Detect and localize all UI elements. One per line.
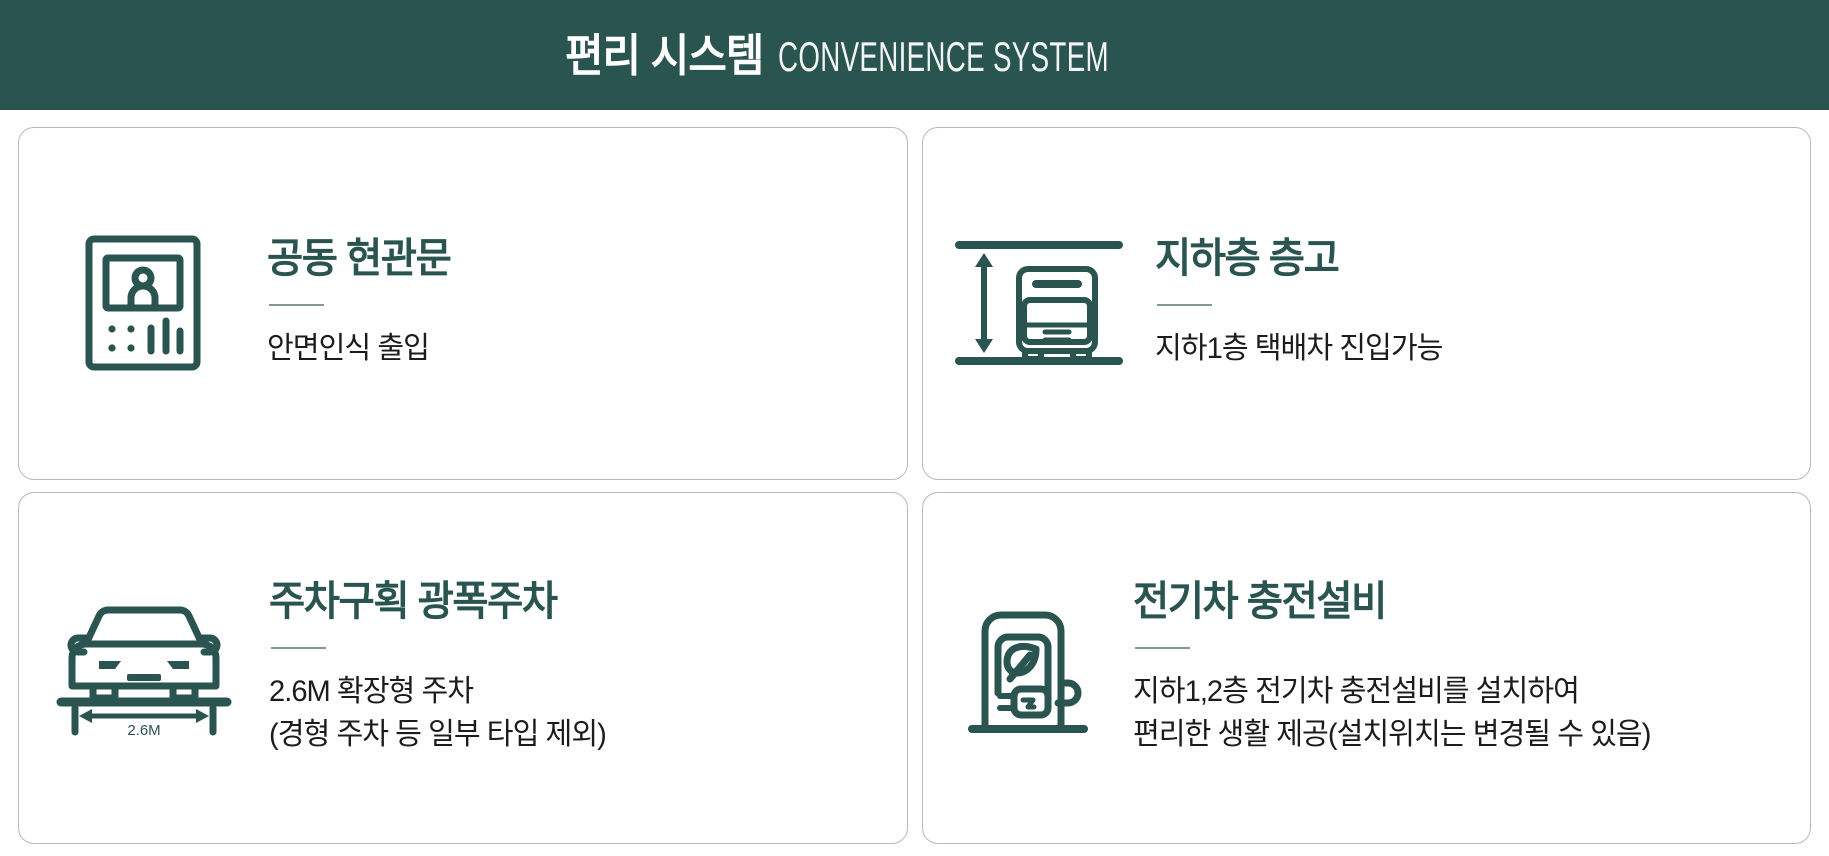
feature-card-basement[interactable]: 지하층 층고 지하1층 택배차 진입가능: [922, 127, 1812, 480]
card-text-parking: 2.6M 확장형 주차 (경형 주차 등 일부 타입 제외): [269, 671, 858, 756]
card-title-ev: 전기차 충전설비: [1133, 579, 1755, 625]
card-text-ev: 지하1,2층 전기차 충전설비를 설치하여 편리한 생활 제공(설치위치는 변경…: [1133, 671, 1761, 756]
card-text-basement: 지하1층 택배차 진입가능: [1155, 328, 1762, 371]
feature-card-entrance[interactable]: 공동 현관문 안면인식 출입: [18, 127, 908, 480]
card-divider: [1135, 647, 1190, 649]
card-divider: [269, 304, 324, 306]
page-header: 편리 시스템 CONVENIENCE SYSTEM: [0, 0, 1829, 110]
car-width-dimension-label: 2.6M: [127, 722, 160, 738]
feature-card-ev[interactable]: 전기차 충전설비 지하1,2층 전기차 충전설비를 설치하여 편리한 생활 제공…: [922, 492, 1812, 845]
card-body-parking: 주차구획 광폭주차 2.6M 확장형 주차 (경형 주차 등 일부 타입 제외): [269, 579, 907, 756]
card-title-entrance: 공동 현관문: [267, 236, 852, 282]
card-body-entrance: 공동 현관문 안면인식 출입: [267, 236, 907, 371]
card-divider: [271, 647, 326, 649]
feature-card-grid: 공동 현관문 안면인식 출입: [0, 110, 1829, 856]
card-text-entrance: 안면인식 출입: [267, 328, 858, 371]
car-width-icon: 2.6M: [19, 493, 269, 844]
page-title-korean: 편리 시스템: [565, 33, 764, 78]
card-title-parking: 주차구획 광폭주차: [269, 579, 852, 625]
card-body-basement: 지하층 층고 지하1층 택배차 진입가능: [1155, 236, 1811, 371]
feature-card-parking[interactable]: 2.6M 주차구획 광폭주차 2.6M 확장형 주차 (경형 주차 등 일부 타…: [18, 492, 908, 845]
intercom-icon: [19, 128, 267, 479]
convenience-system-page: 편리 시스템 CONVENIENCE SYSTEM: [0, 0, 1829, 856]
card-divider: [1157, 304, 1212, 306]
page-title-english: CONVENIENCE SYSTEM: [778, 36, 1109, 78]
ev-charger-icon: [923, 493, 1133, 844]
truck-clearance-icon: [923, 128, 1155, 479]
card-body-ev: 전기차 충전설비 지하1,2층 전기차 충전설비를 설치하여 편리한 생활 제공…: [1133, 579, 1811, 756]
page-title: 편리 시스템 CONVENIENCE SYSTEM: [550, 33, 1279, 78]
card-title-basement: 지하층 층고: [1155, 236, 1755, 282]
